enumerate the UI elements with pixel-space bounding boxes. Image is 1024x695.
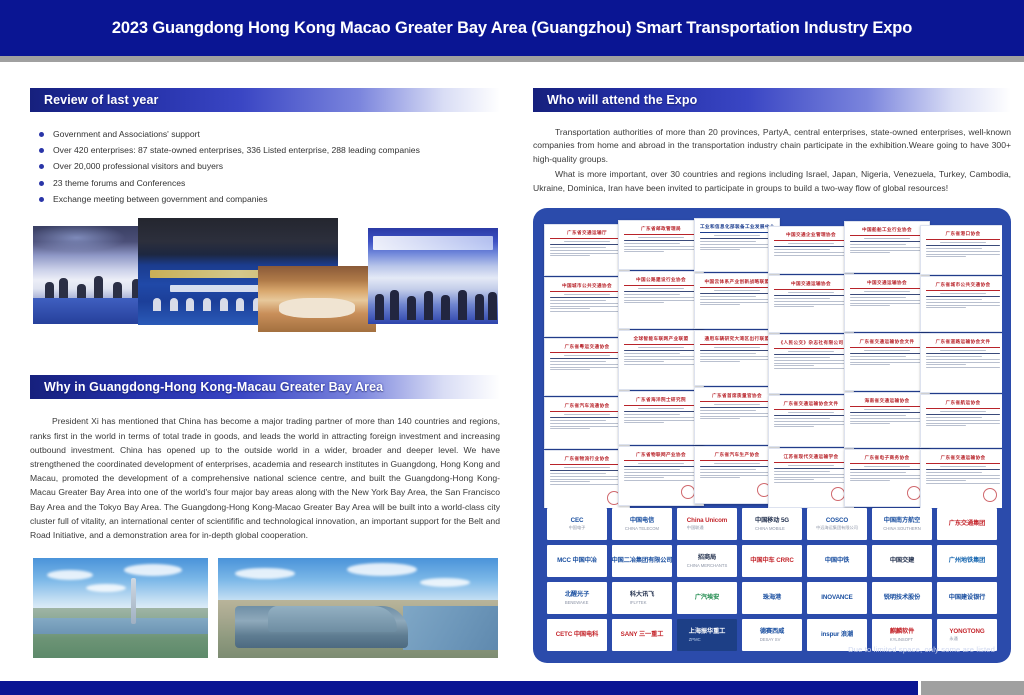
partner-logo: 广州地铁集团 bbox=[937, 545, 997, 577]
section-heading-review: Review of last year bbox=[30, 88, 500, 112]
bullet-dot-icon bbox=[39, 164, 44, 169]
partner-logo-name: 广汽埃安 bbox=[695, 594, 719, 602]
certificate-card: 广东省城市公共交通协会 bbox=[920, 276, 1002, 332]
partner-logo-subtitle: 中国电子 bbox=[569, 525, 586, 531]
partner-logo-subtitle: BENEWAKE bbox=[565, 600, 589, 605]
partner-logo-name: 中国二冶集团有限公司 bbox=[612, 557, 672, 565]
certificate-body bbox=[700, 463, 774, 479]
certificate-title: 中国交通运输协会 bbox=[774, 281, 848, 290]
poster-page: 2023 Guangdong Hong Kong Macao Greater B… bbox=[0, 0, 1024, 695]
supporters-panel: 广东省交通运输厅中国城市公共交通协会广东省粤运交通协会广东省汽车流通协会广东省物… bbox=[533, 208, 1011, 663]
partner-logo-name: 珠海港 bbox=[763, 594, 781, 602]
certificate-body bbox=[850, 409, 924, 425]
partner-logo: 中国交建 bbox=[872, 545, 932, 577]
footer-bar-gray bbox=[921, 681, 1024, 695]
certificate-title: 广东省交通运输厅 bbox=[550, 230, 624, 239]
certificate-body bbox=[700, 404, 774, 420]
certificate-body bbox=[926, 466, 1000, 485]
header-divider bbox=[0, 56, 1024, 62]
section-heading-review-label: Review of last year bbox=[44, 93, 158, 107]
partner-logo-name: CETC 中国电科 bbox=[556, 631, 598, 639]
certificate-title: 广东省道路运输协会文件 bbox=[926, 339, 1000, 348]
partner-logo-name: 中国移动 5G bbox=[755, 517, 789, 525]
certificate-card: 中国船舶工业行业协会 bbox=[844, 221, 930, 273]
certificate-body bbox=[550, 355, 624, 371]
partner-logo-subtitle: 中远海运集团有限公司 bbox=[816, 525, 858, 531]
limited-space-note: Due to limited space, only some are list… bbox=[848, 645, 995, 654]
partner-logo-subtitle: IFLYTEK bbox=[630, 600, 654, 605]
partner-logo: 科大讯飞IFLYTEK bbox=[612, 582, 672, 614]
certificate-title: 中国船舶工业行业协会 bbox=[850, 227, 924, 236]
certificate-title: 工业和信息化部装备工业发展中心 bbox=[700, 224, 774, 233]
partner-logo-name: 广州地铁集团 bbox=[949, 557, 986, 565]
partner-logo-name: COSCO bbox=[816, 517, 858, 525]
certificate-body bbox=[550, 241, 624, 257]
certificate-title: 《人民公交》杂志社有限公司 bbox=[774, 340, 848, 349]
certificate-title: 广东省港口协会 bbox=[926, 231, 1000, 240]
partner-logo-name: 中国建设银行 bbox=[949, 594, 986, 602]
partner-logo-subtitle: 中国联通 bbox=[687, 525, 727, 531]
certificate-title: 广东省交通运输协会文件 bbox=[850, 339, 924, 348]
partner-logo: CETC 中国电科 bbox=[547, 619, 607, 651]
certificate-title: 广东省交通运输协会 bbox=[926, 455, 1000, 464]
partner-logo-name: China Unicom bbox=[687, 517, 727, 525]
list-item: 23 theme forums and Conferences bbox=[39, 177, 500, 191]
right-column: Who will attend the Expo Transportation … bbox=[533, 88, 1011, 658]
official-seal-icon bbox=[681, 485, 695, 499]
certificate-title: 广东省汽车流通协会 bbox=[550, 403, 624, 412]
certificate-title: 广东省交通运输协会文件 bbox=[774, 401, 848, 410]
certificate-title: 广东省物联网产业协会 bbox=[624, 452, 698, 461]
partner-logo-subtitle: CHINA MERCHANTS bbox=[687, 563, 727, 568]
list-item: Over 20,000 professional visitors and bu… bbox=[39, 160, 500, 174]
certificate-card: 广东省物联网产业协会 bbox=[618, 446, 704, 506]
partner-logo-name: 中国中车 CRRC bbox=[750, 557, 793, 565]
footer-bar bbox=[0, 681, 918, 695]
certificate-body bbox=[774, 243, 848, 256]
section-heading-attendees: Who will attend the Expo bbox=[533, 88, 1011, 112]
certificate-column: 中国船舶工业行业协会中国交通运输协会广东省交通运输协会文件海南省交通运输协会广东… bbox=[844, 221, 930, 507]
certificate-body bbox=[624, 347, 698, 366]
certificate-card: 广东省航运协会 bbox=[920, 394, 1002, 448]
partner-logo: 德赛西威DESAY SV bbox=[742, 619, 802, 651]
certificate-body bbox=[700, 235, 774, 251]
partner-logo: 广东交通集团 bbox=[937, 508, 997, 540]
partner-logo: 珠海港 bbox=[742, 582, 802, 614]
certificate-title: 中国交通运输协会 bbox=[850, 280, 924, 289]
certificate-body bbox=[850, 291, 924, 307]
certificate-body bbox=[550, 467, 624, 486]
partner-logo-name: YONGTONG bbox=[949, 628, 984, 636]
partner-logo: 广汽埃安 bbox=[677, 582, 737, 614]
official-seal-icon bbox=[907, 486, 921, 500]
partner-logo-name: 招商局 bbox=[687, 554, 727, 562]
partner-logo: 中国建设银行 bbox=[937, 582, 997, 614]
certificate-column: 中国交通企业管理协会中国交通运输协会《人民公交》杂志社有限公司广东省交通运输协会… bbox=[768, 226, 854, 508]
partner-logo: SANY 三一重工 bbox=[612, 619, 672, 651]
section-heading-why-label: Why in Guangdong-Hong Kong-Macau Greater… bbox=[44, 380, 383, 394]
certificate-body bbox=[774, 351, 848, 370]
certificate-card: 广东省电子商务协会 bbox=[844, 449, 930, 507]
official-seal-icon bbox=[831, 487, 845, 501]
certificate-body bbox=[700, 290, 774, 306]
partner-logo-name: 上海振华重工 bbox=[689, 628, 726, 636]
partner-logo: 上海振华重工ZPMC bbox=[677, 619, 737, 651]
partner-logo-subtitle: DESAY SV bbox=[760, 637, 784, 642]
certificate-body bbox=[926, 242, 1000, 258]
list-item-label: 23 theme forums and Conferences bbox=[53, 178, 185, 188]
bullet-dot-icon bbox=[39, 132, 44, 137]
certificate-title: 广东省电子商务协会 bbox=[850, 455, 924, 464]
partner-logo-name: CEC bbox=[569, 517, 586, 525]
partner-logo-name: 锐明技术股份 bbox=[884, 594, 921, 602]
certificate-card: 中国交通运输协会 bbox=[844, 274, 930, 332]
certificate-card: 广东省交通运输协会文件 bbox=[768, 395, 854, 447]
section-heading-why: Why in Guangdong-Hong Kong-Macau Greater… bbox=[30, 375, 500, 399]
attendees-paragraph-2: What is more important, over 30 countrie… bbox=[533, 168, 1011, 195]
photo-guangzhou-tower bbox=[33, 558, 208, 658]
partner-logo: 中国移动 5GCHINA MOBILE bbox=[742, 508, 802, 540]
partner-logo-subtitle: 永通 bbox=[949, 636, 984, 642]
bullet-dot-icon bbox=[39, 197, 44, 202]
certificate-title: 广东省城市公共交通协会 bbox=[926, 282, 1000, 291]
certificate-title: 广东省物流行业协会 bbox=[550, 456, 624, 465]
certificate-card: 广东省交通运输协会 bbox=[920, 449, 1002, 508]
bullet-dot-icon bbox=[39, 181, 44, 186]
photo-roundtable-meeting bbox=[258, 266, 376, 332]
certificate-card: 中国交通企业管理协会 bbox=[768, 226, 854, 274]
partner-logo-name: 德赛西威 bbox=[760, 628, 784, 636]
review-bullet-list: Government and Associations' support Ove… bbox=[30, 128, 500, 206]
certificate-collage: 广东省交通运输厅中国城市公共交通协会广东省粤运交通协会广东省汽车流通协会广东省物… bbox=[542, 218, 1002, 508]
certificate-body bbox=[550, 294, 624, 313]
certificate-column: 广东省港口协会广东省城市公共交通协会广东省道路运输协会文件广东省航运协会广东省交… bbox=[920, 225, 1002, 508]
section-heading-attendees-label: Who will attend the Expo bbox=[547, 93, 697, 107]
photo-company-booth bbox=[368, 228, 498, 324]
certificate-title: 中国城市公共交通协会 bbox=[550, 283, 624, 292]
list-item: Over 420 enterprises: 87 state-owned ent… bbox=[39, 144, 500, 158]
certificate-title: 江苏省现代交通运输学会 bbox=[774, 454, 848, 463]
certificate-card: 《人民公交》杂志社有限公司 bbox=[768, 334, 854, 394]
list-item-label: Exchange meeting between government and … bbox=[53, 194, 268, 204]
certificate-body bbox=[926, 293, 1000, 309]
certificate-card: 广东省海洋院士研究院 bbox=[618, 391, 704, 445]
certificate-body bbox=[624, 288, 698, 304]
certificate-title: 广东省汽车生产协会 bbox=[700, 452, 774, 461]
list-item: Exchange meeting between government and … bbox=[39, 193, 500, 207]
list-item-label: Over 20,000 professional visitors and bu… bbox=[53, 161, 223, 171]
certificate-body bbox=[774, 292, 848, 308]
certificate-body bbox=[624, 463, 698, 482]
left-column: Review of last year Government and Assoc… bbox=[30, 88, 500, 658]
why-paragraph: President Xi has mentioned that China ha… bbox=[30, 414, 500, 542]
certificate-card: 广东省交通运输协会文件 bbox=[844, 333, 930, 391]
certificate-body bbox=[624, 408, 698, 424]
certificate-card: 中国公路建设行业协会 bbox=[618, 271, 704, 329]
partner-logo-name: INOVANCE bbox=[821, 594, 852, 602]
certificate-card: 广东省道路运输协会文件 bbox=[920, 333, 1002, 393]
attendees-paragraph-1: Transportation authorities of more than … bbox=[533, 126, 1011, 166]
photo-convention-center bbox=[218, 558, 498, 658]
certificate-body bbox=[550, 414, 624, 430]
certificate-card: 海南省交通运输协会 bbox=[844, 392, 930, 448]
partner-logo-name: 中国中铁 bbox=[825, 557, 849, 565]
partner-logo-name: MCC 中国中冶 bbox=[557, 557, 597, 565]
certificate-body bbox=[926, 411, 1000, 427]
certificate-body bbox=[624, 237, 698, 253]
partner-logo-subtitle: CHINA MOBILE bbox=[755, 526, 789, 531]
certificate-title: 中国公路建设行业协会 bbox=[624, 277, 698, 286]
certificate-title: 广东省海洋院士研究院 bbox=[624, 397, 698, 406]
certificate-body bbox=[774, 465, 848, 484]
partner-logo-name: 中国电信 bbox=[625, 517, 659, 525]
certificate-card: 中国交通运输协会 bbox=[768, 275, 854, 333]
certificate-title: 广东省航运协会 bbox=[926, 400, 1000, 409]
certificate-column: 广东省邮政管理局中国公路建设行业协会全球智能车联网产业联盟广东省海洋院士研究院广… bbox=[618, 220, 704, 506]
certificate-title: 中国云体系产业创新战略联盟 bbox=[700, 279, 774, 288]
certificate-body bbox=[850, 350, 924, 366]
partner-logo-subtitle: KYLINSOFT bbox=[890, 637, 914, 642]
page-title: 2023 Guangdong Hong Kong Macao Greater B… bbox=[112, 19, 912, 38]
certificate-title: 广东省首席质量官协会 bbox=[700, 393, 774, 402]
partner-logo: COSCO中远海运集团有限公司 bbox=[807, 508, 867, 540]
partner-logo-name: 麒麟软件 bbox=[890, 628, 914, 636]
certificate-body bbox=[850, 238, 924, 254]
partner-logo: 招商局CHINA MERCHANTS bbox=[677, 545, 737, 577]
city-photo-row bbox=[30, 558, 500, 658]
partner-logo-name: 北醒光子 bbox=[565, 591, 589, 599]
partner-logo-subtitle: ZPMC bbox=[689, 637, 726, 642]
page-header: 2023 Guangdong Hong Kong Macao Greater B… bbox=[0, 0, 1024, 56]
certificate-card: 广东省港口协会 bbox=[920, 225, 1002, 275]
partner-logo-name: 中国交建 bbox=[890, 557, 914, 565]
certificate-title: 通用车辆研究大湾区出行联盟 bbox=[700, 336, 774, 345]
partner-logo: CEC中国电子 bbox=[547, 508, 607, 540]
partner-logo-subtitle: CHINA TELECOM bbox=[625, 526, 659, 531]
certificate-body bbox=[700, 347, 774, 363]
list-item-label: Over 420 enterprises: 87 state-owned ent… bbox=[53, 145, 420, 155]
partner-logo: 中国二冶集团有限公司 bbox=[612, 545, 672, 577]
partner-logo: 北醒光子BENEWAKE bbox=[547, 582, 607, 614]
partner-logo: 中国中车 CRRC bbox=[742, 545, 802, 577]
certificate-body bbox=[774, 412, 848, 428]
partner-logo: INOVANCE bbox=[807, 582, 867, 614]
partner-logo: MCC 中国中冶 bbox=[547, 545, 607, 577]
certificate-title: 中国交通企业管理协会 bbox=[774, 232, 848, 241]
partner-logo-name: 科大讯飞 bbox=[630, 591, 654, 599]
partner-logo-subtitle: CHINA SOUTHERN bbox=[883, 526, 920, 531]
certificate-title: 海南省交通运输协会 bbox=[850, 398, 924, 407]
list-item-label: Government and Associations' support bbox=[53, 129, 200, 139]
event-photo-collage bbox=[30, 218, 500, 333]
bullet-dot-icon bbox=[39, 148, 44, 153]
list-item: Government and Associations' support bbox=[39, 128, 500, 142]
partner-logo-grid: CEC中国电子中国电信CHINA TELECOMChina Unicom中国联通… bbox=[547, 508, 997, 651]
partner-logo: 中国南方航空CHINA SOUTHERN bbox=[872, 508, 932, 540]
partner-logo-name: SANY 三一重工 bbox=[621, 631, 664, 639]
partner-logo: 锐明技术股份 bbox=[872, 582, 932, 614]
certificate-card: 江苏省现代交通运输学会 bbox=[768, 448, 854, 508]
certificate-body bbox=[850, 466, 924, 482]
partner-logo: 中国中铁 bbox=[807, 545, 867, 577]
partner-logo: China Unicom中国联通 bbox=[677, 508, 737, 540]
certificate-title: 广东省邮政管理局 bbox=[624, 226, 698, 235]
partner-logo-name: inspur 浪潮 bbox=[821, 631, 853, 639]
certificate-card: 全球智能车联网产业联盟 bbox=[618, 330, 704, 390]
certificate-title: 全球智能车联网产业联盟 bbox=[624, 336, 698, 345]
partner-logo-name: 中国南方航空 bbox=[883, 517, 920, 525]
certificate-body bbox=[926, 350, 1000, 369]
certificate-title: 广东省粤运交通协会 bbox=[550, 344, 624, 353]
official-seal-icon bbox=[983, 488, 997, 502]
partner-logo-name: 广东交通集团 bbox=[949, 520, 986, 528]
certificate-card: 广东省邮政管理局 bbox=[618, 220, 704, 270]
partner-logo: 中国电信CHINA TELECOM bbox=[612, 508, 672, 540]
